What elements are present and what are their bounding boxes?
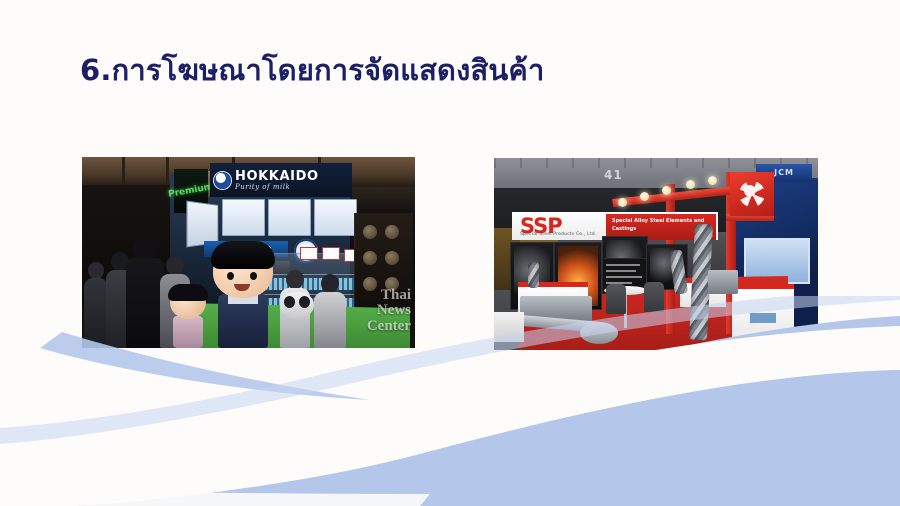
- menu-screen: [268, 199, 311, 236]
- menu-screen: [222, 199, 265, 236]
- hokkaido-tagline-text: Purity of milk: [235, 184, 319, 191]
- cow-logo-icon: [214, 172, 231, 189]
- menu-screens: [222, 199, 357, 236]
- hokkaido-sign: HOKKAIDO Purity of milk: [210, 163, 352, 197]
- hokkaido-brand-text: HOKKAIDO: [235, 170, 319, 183]
- page-title: 6.การโฆษณาโดยการจัดแสดงสินค้า: [80, 47, 544, 93]
- booth-logo-cube: [730, 172, 774, 216]
- menu-screen: [314, 199, 357, 236]
- auger-screw-product: [528, 262, 539, 288]
- booth-number-label: 41: [604, 168, 623, 182]
- ssp-subtitle-text: Special Steel Products Co., Ltd.: [520, 232, 596, 237]
- gear-logo-icon: [739, 181, 765, 207]
- presentation-slide: 6.การโฆษณาโดยการจัดแสดงสินค้า Premium HO…: [0, 0, 900, 506]
- green-sign-label: Premium: [168, 182, 214, 200]
- bottom-wave-ribbon: [0, 296, 900, 506]
- machinery-exhibit: [708, 270, 738, 294]
